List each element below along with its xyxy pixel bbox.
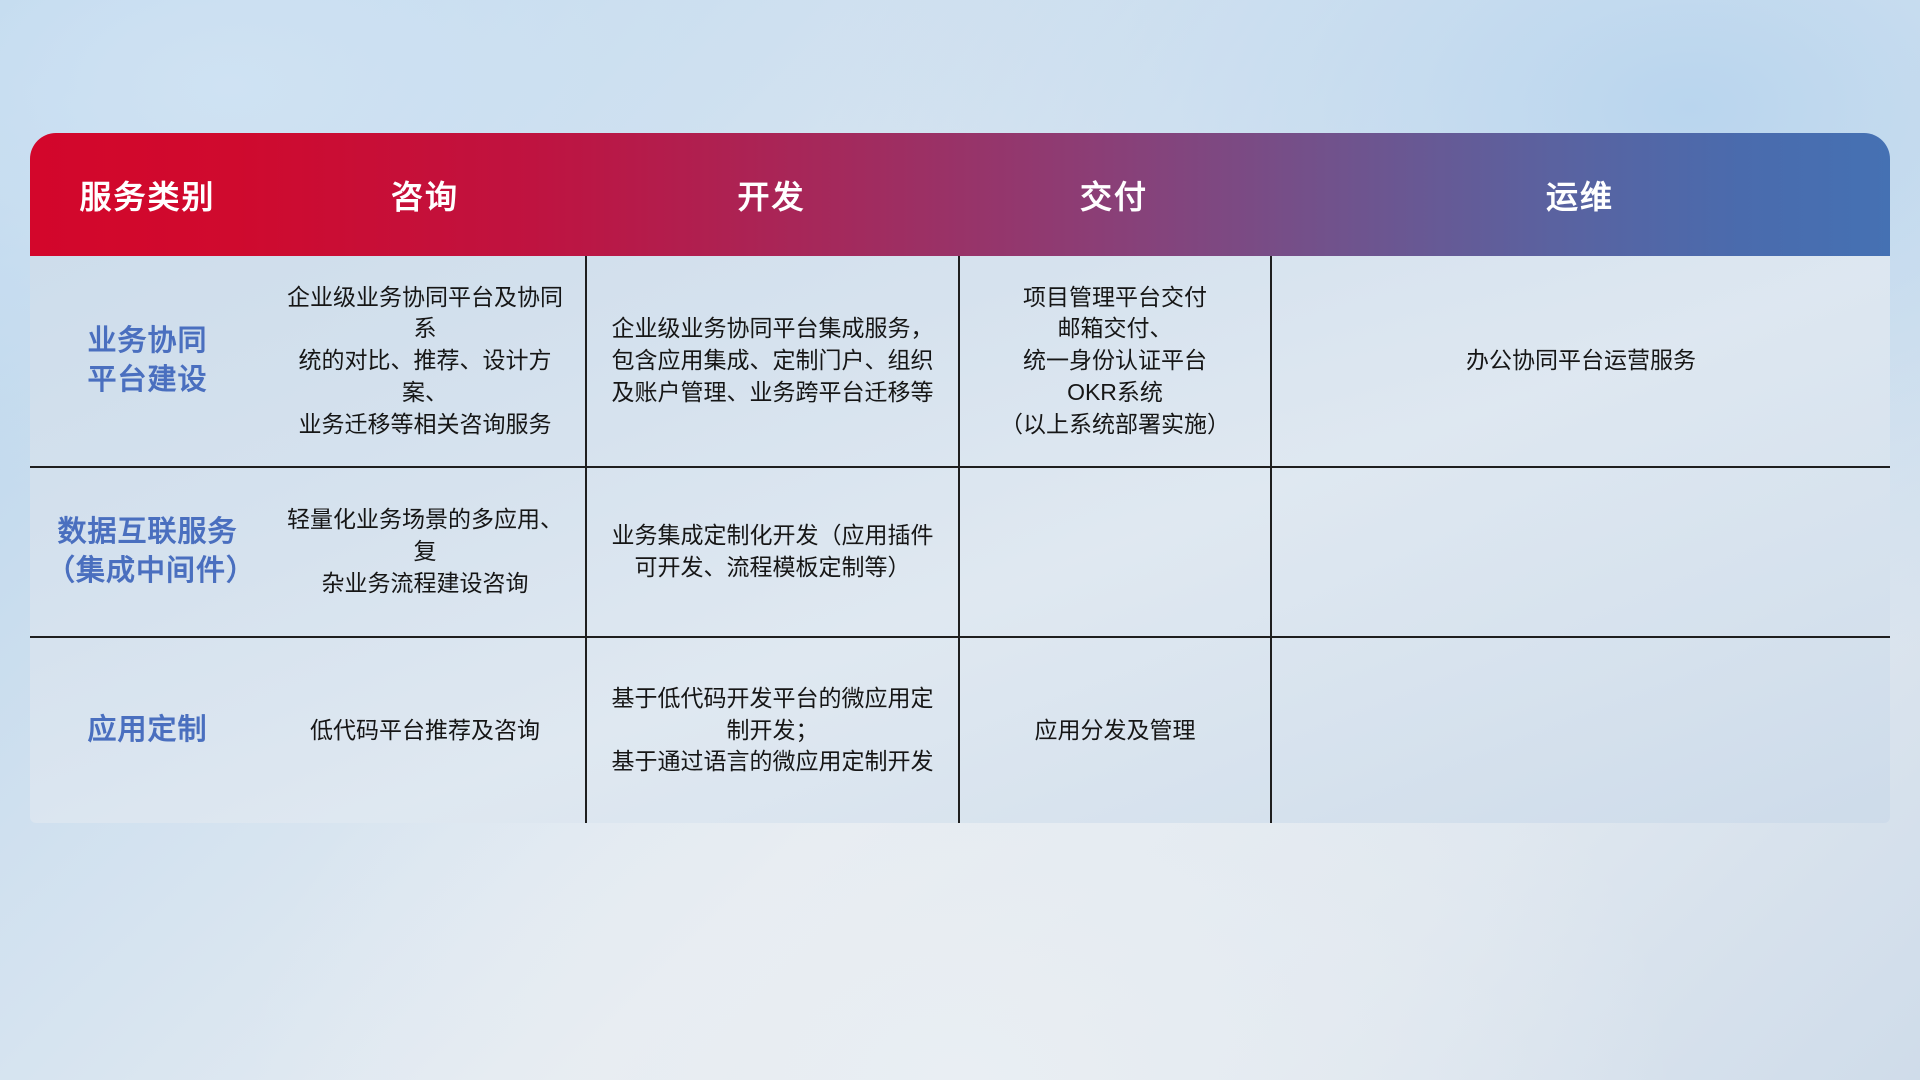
column-header-operations: 运维 xyxy=(1270,133,1890,256)
column-header-delivery: 交付 xyxy=(958,133,1270,256)
cell-consulting-row2: 轻量化业务场景的多应用、复 杂业务流程建设咨询 xyxy=(265,468,585,636)
cell-consulting-row3: 低代码平台推荐及咨询 xyxy=(265,638,585,823)
cell-development-row2: 业务集成定制化开发（应用插件 可开发、流程模板定制等） xyxy=(585,468,958,636)
cell-operations-row2 xyxy=(1270,468,1890,636)
cell-consulting-row1: 企业级业务协同平台及协同系 统的对比、推荐、设计方案、 业务迁移等相关咨询服务 xyxy=(265,256,585,466)
cell-operations-row3 xyxy=(1270,638,1890,823)
row-label-business-collaboration: 业务协同 平台建设 xyxy=(30,256,265,466)
table-row: 业务协同 平台建设 企业级业务协同平台及协同系 统的对比、推荐、设计方案、 业务… xyxy=(30,256,1890,466)
cell-delivery-row3: 应用分发及管理 xyxy=(958,638,1270,823)
cell-operations-row1: 办公协同平台运营服务 xyxy=(1270,256,1890,466)
row-label-app-customization: 应用定制 xyxy=(30,638,265,823)
slide-canvas: 服务类别 咨询 开发 交付 运维 业务协同 平台建设 企业级业务协同平台及协同系… xyxy=(0,0,1920,1080)
cell-delivery-row2 xyxy=(958,468,1270,636)
column-header-consulting: 咨询 xyxy=(265,133,585,256)
column-header-category: 服务类别 xyxy=(30,133,265,256)
cell-development-row1: 企业级业务协同平台集成服务， 包含应用集成、定制门户、组织 及账户管理、业务跨平… xyxy=(585,256,958,466)
service-matrix-table: 服务类别 咨询 开发 交付 运维 业务协同 平台建设 企业级业务协同平台及协同系… xyxy=(30,133,1890,823)
cell-development-row3: 基于低代码开发平台的微应用定 制开发； 基于通过语言的微应用定制开发 xyxy=(585,638,958,823)
table-body: 业务协同 平台建设 企业级业务协同平台及协同系 统的对比、推荐、设计方案、 业务… xyxy=(30,256,1890,823)
table-row: 应用定制 低代码平台推荐及咨询 基于低代码开发平台的微应用定 制开发； 基于通过… xyxy=(30,636,1890,823)
table-row: 数据互联服务 （集成中间件） 轻量化业务场景的多应用、复 杂业务流程建设咨询 业… xyxy=(30,466,1890,636)
column-header-development: 开发 xyxy=(585,133,958,256)
row-label-data-interconnect: 数据互联服务 （集成中间件） xyxy=(30,468,265,636)
cell-delivery-row1: 项目管理平台交付 邮箱交付、 统一身份认证平台 OKR系统 （以上系统部署实施） xyxy=(958,256,1270,466)
table-header-row: 服务类别 咨询 开发 交付 运维 xyxy=(30,133,1890,256)
